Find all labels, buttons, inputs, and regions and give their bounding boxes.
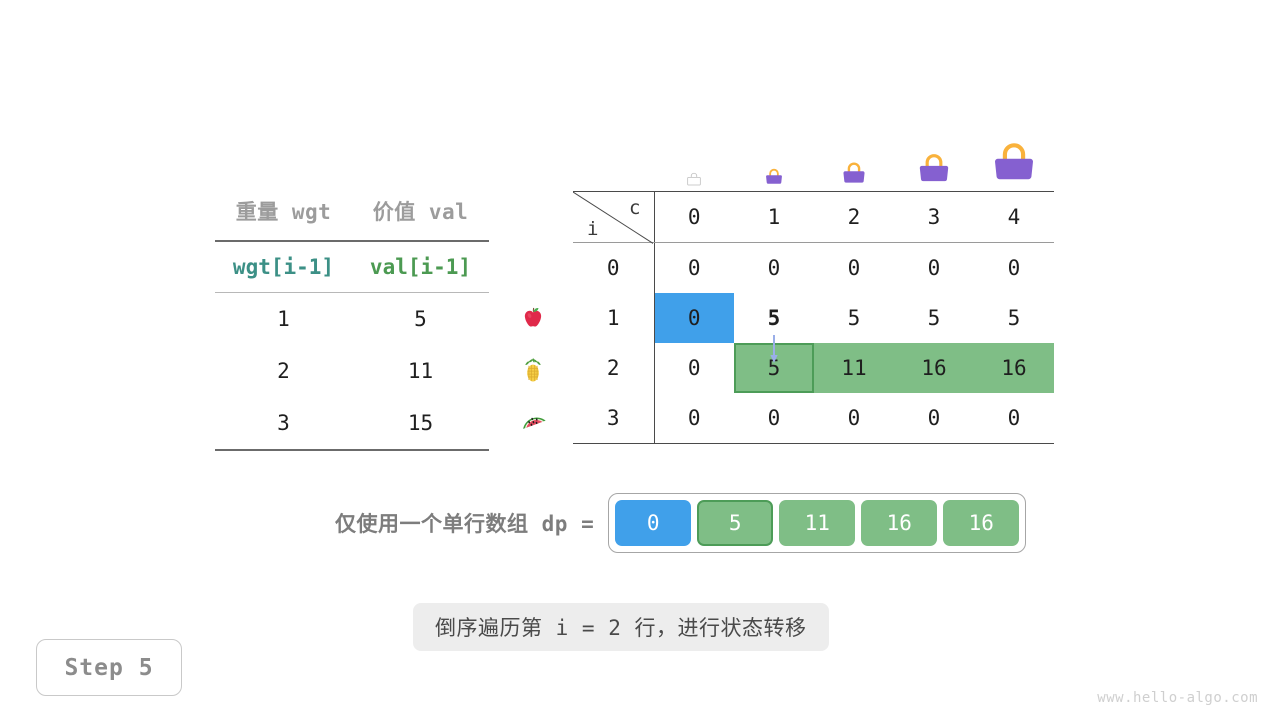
items-subheader-wgt: wgt[i-1]	[215, 241, 352, 293]
dp-cell-2-2: 11	[814, 343, 894, 393]
dp-cell-1-0: 0	[654, 293, 734, 343]
items-table-header-row: 重量 wgt 价值 val	[215, 192, 489, 241]
dp-cell-1-4: 5	[974, 293, 1054, 343]
item-icons-column	[508, 293, 558, 446]
dp-row-cell-3: 16	[861, 500, 937, 546]
bag-empty-icon	[654, 124, 734, 190]
items-header-value: 价值 val	[352, 192, 489, 241]
dp-cell-0-3: 0	[894, 243, 974, 294]
dp-cell-0-1: 0	[734, 243, 814, 294]
item-value-1: 5	[352, 293, 489, 346]
dp-matrix-grid: c i 0 1 2 3 4 0 0 0 0 0 0 1 0 5 5 5 5 2	[573, 191, 1054, 444]
table-row: 2 11	[215, 345, 489, 397]
item-value-2: 11	[352, 345, 489, 397]
table-row: 2 0 5 11 16 16	[573, 343, 1054, 393]
row-header-2: 2	[573, 343, 654, 393]
dp-row-cell-4: 16	[943, 500, 1019, 546]
dp-cell-1-2: 5	[814, 293, 894, 343]
row-header-0: 0	[573, 243, 654, 294]
dp-cell-2-4: 16	[974, 343, 1054, 393]
dp-cell-3-3: 0	[894, 393, 974, 444]
items-table-subheader-row: wgt[i-1] val[i-1]	[215, 241, 489, 293]
dp-row-cell-2: 11	[779, 500, 855, 546]
items-table: 重量 wgt 价值 val wgt[i-1] val[i-1] 1 5 2 11…	[215, 192, 489, 451]
col-header-0: 0	[654, 192, 734, 243]
table-row: 3 0 0 0 0 0	[573, 393, 1054, 444]
item-weight-1: 1	[215, 293, 352, 346]
table-row: 3 15	[215, 397, 489, 450]
dp-cell-2-3: 16	[894, 343, 974, 393]
axis-label-i: i	[587, 218, 598, 240]
dp-cell-1-1: 5	[734, 293, 814, 343]
items-header-weight: 重量 wgt	[215, 192, 352, 241]
item-value-3: 15	[352, 397, 489, 450]
pineapple-icon	[508, 344, 558, 395]
table-row: 1 5	[215, 293, 489, 346]
bag-medium-icon	[814, 124, 894, 190]
dp-row-cell-1: 5	[697, 500, 773, 546]
bag-xlarge-icon	[974, 124, 1054, 190]
table-row: 0 0 0 0 0 0	[573, 243, 1054, 294]
dp-matrix-header-row: c i 0 1 2 3 4	[573, 192, 1054, 243]
item-weight-3: 3	[215, 397, 352, 450]
items-subheader-val: val[i-1]	[352, 241, 489, 293]
dp-cell-2-1: 5	[734, 343, 814, 393]
dp-cell-3-4: 0	[974, 393, 1054, 444]
item-weight-2: 2	[215, 345, 352, 397]
dp-cell-3-2: 0	[814, 393, 894, 444]
dp-cell-1-3: 5	[894, 293, 974, 343]
apple-icon	[508, 293, 558, 344]
axis-corner: c i	[573, 192, 654, 243]
step-badge: Step 5	[36, 639, 182, 696]
diagonal-divider-icon	[573, 192, 653, 244]
dp-row-array: 仅使用一个单行数组 dp = 0 5 11 16 16	[335, 493, 1026, 553]
dp-cell-0-0: 0	[654, 243, 734, 294]
capacity-icons-row	[654, 124, 1054, 190]
dp-cell-2-0: 0	[654, 343, 734, 393]
col-header-3: 3	[894, 192, 974, 243]
row-header-3: 3	[573, 393, 654, 444]
caption-text: 倒序遍历第 i = 2 行，进行状态转移	[413, 603, 829, 651]
bag-small-icon	[734, 124, 814, 190]
bag-large-icon	[894, 124, 974, 190]
table-row: 1 0 5 5 5 5	[573, 293, 1054, 343]
col-header-4: 4	[974, 192, 1054, 243]
dp-row-container: 0 5 11 16 16	[608, 493, 1026, 553]
row-header-1: 1	[573, 293, 654, 343]
axis-label-c: c	[629, 197, 640, 219]
dp-matrix: c i 0 1 2 3 4 0 0 0 0 0 0 1 0 5 5 5 5 2	[573, 191, 1054, 444]
dp-cell-3-1: 0	[734, 393, 814, 444]
col-header-2: 2	[814, 192, 894, 243]
dp-cell-0-4: 0	[974, 243, 1054, 294]
dp-cell-0-2: 0	[814, 243, 894, 294]
items-table-grid: 重量 wgt 价值 val wgt[i-1] val[i-1] 1 5 2 11…	[215, 192, 489, 451]
dp-cell-3-0: 0	[654, 393, 734, 444]
watermelon-icon	[508, 395, 558, 446]
dp-row-label: 仅使用一个单行数组 dp =	[335, 508, 594, 538]
col-header-1: 1	[734, 192, 814, 243]
dp-row-cell-0: 0	[615, 500, 691, 546]
watermark: www.hello-algo.com	[1097, 690, 1258, 706]
